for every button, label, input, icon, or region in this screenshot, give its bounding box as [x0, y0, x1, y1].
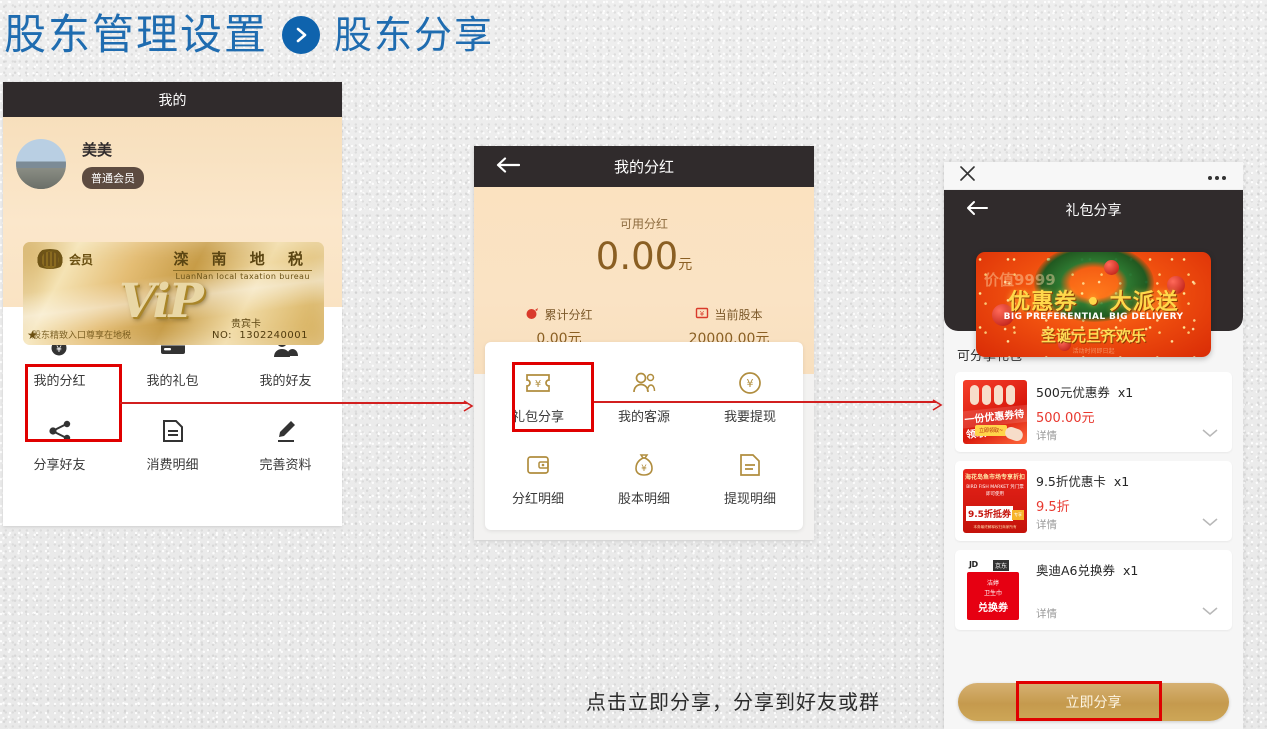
gift-info: 奥迪A6兑换券 x1 详情 [1036, 558, 1224, 622]
vip-card-vip-text: ViP [119, 274, 202, 329]
gift-detail-label[interactable]: 详情 [1036, 517, 1057, 532]
gift-thumbnail: 海花岛鱼市场专享折扣 BIRD FISH MARKET 凭门票即可使用 9.5折… [963, 469, 1027, 533]
gift-list-area: 可分享礼包 一份优惠券待领取 立即领取~ 500元优惠券 x1 500.00元 … [944, 331, 1243, 630]
thumb-sub: BIRD FISH MARKET 凭门票即可使用 [965, 485, 1025, 499]
available-dividend-label: 可用分红 [474, 187, 814, 232]
money-bag-icon: ¥ [632, 452, 656, 478]
withdraw-yuan-icon: ¥ [738, 370, 762, 396]
document-icon [739, 452, 761, 478]
page-title-main: 股东管理设置 [4, 14, 268, 56]
vip-card-footer-text: 股东精致入口尊享在地税 [32, 328, 131, 341]
panel2-menu-grid: ¥ 礼包分享 我的客源 ¥ 我要提现 分红明细 [485, 342, 803, 520]
gift-name: 9.5折优惠卡 x1 [1036, 471, 1224, 490]
panel3-header-title: 礼包分享 [1066, 200, 1122, 220]
phone-screen-profile: 我的 美美 普通会员 会员 滦 南 地 税 LuanNan local taxa… [3, 82, 342, 526]
menu-label: 我的礼包 [146, 370, 198, 389]
thumb-line-3: 兑换券 [967, 599, 1019, 614]
vip-card-number: NO: 1302240001 [212, 330, 308, 341]
thumb-tag: 专享 [1012, 510, 1024, 520]
more-dots-icon[interactable] [1207, 166, 1227, 185]
gift-detail-label[interactable]: 详情 [1036, 428, 1057, 443]
share-now-button[interactable]: 立即分享 [958, 683, 1229, 721]
vip-card-type: 贵宾卡 [231, 315, 261, 330]
ornament-icon [1104, 260, 1119, 275]
banner-footnote: 活动时间即日起 [976, 346, 1211, 355]
menu-label: 提现明细 [724, 488, 776, 507]
gift-detail-label[interactable]: 详情 [1036, 606, 1057, 621]
flow-arrow-1 [120, 397, 475, 409]
svg-text:¥: ¥ [535, 379, 541, 390]
thumb-line-1: 洁婷 [967, 578, 1019, 587]
instruction-caption: 点击立即分享，分享到好友或群 [586, 686, 880, 715]
vip-card[interactable]: 会员 滦 南 地 税 LuanNan local taxation bureau… [23, 242, 324, 345]
menu-label: 我要提现 [724, 406, 776, 425]
gift-price: 500.00元 [1036, 407, 1224, 426]
menu-label: 我的好友 [259, 370, 311, 389]
user-info: 美美 普通会员 [3, 117, 342, 189]
phone-screen-gift-share: 礼包分享 价值9999 优惠券 • 大派送 BIG PREFERENTIAL B… [944, 162, 1243, 729]
panel3-header-area: 礼包分享 价值9999 优惠券 • 大派送 BIG PREFERENTIAL B… [944, 190, 1243, 331]
customers-icon [631, 370, 657, 396]
menu-label: 我的客源 [618, 406, 670, 425]
panel2-menu-card: ¥ 礼包分享 我的客源 ¥ 我要提现 分红明细 [485, 342, 803, 530]
list-item[interactable]: 海花岛鱼市场专享折扣 BIRD FISH MARKET 凭门票即可使用 9.5折… [955, 461, 1232, 541]
thumb-badge: 9.5折抵券 [966, 506, 1013, 521]
list-item[interactable]: JD 京东 洁婷 卫生巾 兑换券 奥迪A6兑换券 x1 详情 [955, 550, 1232, 630]
gift-info: 9.5折优惠卡 x1 9.5折 详情 [1036, 469, 1224, 533]
thumb-title: 海花岛鱼市场专享折扣 [965, 472, 1025, 481]
list-item[interactable]: 一份优惠券待领取 立即领取~ 500元优惠券 x1 500.00元 详情 [955, 372, 1232, 452]
thumb-brand: JD [969, 560, 978, 569]
gift-thumbnail: JD 京东 洁婷 卫生巾 兑换券 [963, 558, 1027, 622]
promo-banner[interactable]: 价值9999 优惠券 • 大派送 BIG PREFERENTIAL BIG DE… [976, 252, 1211, 357]
back-arrow-icon[interactable] [496, 156, 520, 177]
user-name: 美美 [82, 139, 144, 160]
vip-card-logo: 会员 [33, 249, 93, 269]
menu-label: 消费明细 [146, 454, 198, 473]
panel1-header: 我的 [3, 82, 342, 117]
panel1-header-title: 我的 [159, 90, 187, 110]
thumb-foot: 本券最终解释权归商家所有 [965, 525, 1025, 530]
gift-ticket-icon: ¥ [525, 370, 551, 396]
stat-label: 累计分红 [544, 306, 592, 323]
panel1-profile-area: 美美 普通会员 会员 滦 南 地 税 LuanNan local taxatio… [3, 117, 342, 307]
page-title-sub: 股东分享 [334, 16, 494, 54]
svg-text:¥: ¥ [700, 310, 705, 318]
menu-item-share-friends[interactable]: 分享好友 [3, 403, 116, 487]
thumb-pill: 立即领取~ [975, 425, 1007, 436]
menu-label: 分红明细 [512, 488, 564, 507]
chevron-down-icon[interactable] [1202, 512, 1218, 531]
gift-info: 500元优惠券 x1 500.00元 详情 [1036, 380, 1224, 444]
gift-name: 500元优惠券 x1 [1036, 382, 1224, 401]
document-icon [162, 418, 184, 444]
stat-label: 当前股本 [714, 306, 762, 323]
panel2-header-title: 我的分红 [614, 156, 674, 177]
edit-pen-icon [275, 418, 297, 444]
menu-item-dividend-detail[interactable]: 分红明细 [485, 438, 591, 520]
avatar [16, 139, 66, 189]
gift-thumbnail: 一份优惠券待领取 立即领取~ [963, 380, 1027, 444]
menu-label: 股本明细 [618, 488, 670, 507]
chevron-right-circle-icon [282, 16, 320, 54]
share-bar: 立即分享 [944, 675, 1243, 729]
close-icon[interactable] [960, 166, 975, 185]
thumb-brand-tag: 京东 [993, 560, 1009, 571]
banner-subline-cn: 圣诞元旦齐欢乐 [976, 325, 1211, 346]
status-badge: 普通会员 [82, 167, 144, 189]
wechat-top-bar [944, 162, 1243, 190]
svg-text:¥: ¥ [747, 377, 754, 390]
share-icon [48, 418, 72, 444]
svg-text:¥: ¥ [641, 464, 647, 474]
menu-label: 礼包分享 [512, 406, 564, 425]
vip-card-org-cn: 滦 南 地 税 [173, 248, 312, 269]
flow-arrow-2 [594, 396, 944, 408]
svg-text:¥: ¥ [56, 345, 62, 355]
emblem-icon [33, 249, 67, 269]
chevron-down-icon[interactable] [1202, 601, 1218, 620]
panel3-header: 礼包分享 [944, 190, 1243, 230]
page-title: 股东管理设置 股东分享 [4, 2, 494, 68]
menu-item-consumption-detail[interactable]: 消费明细 [116, 403, 229, 487]
menu-label: 我的分红 [33, 370, 85, 389]
vip-card-member-label: 会员 [69, 251, 93, 268]
available-dividend-amount: 0.00元 [474, 235, 814, 278]
menu-item-gift-share[interactable]: ¥ 礼包分享 [485, 356, 591, 438]
gift-price: 9.5折 [1036, 496, 1224, 515]
coin-red-icon [525, 306, 539, 323]
banner-subline-en: BIG PREFERENTIAL BIG DELIVERY [976, 312, 1211, 322]
wallet-icon [526, 452, 550, 478]
ticket-red-icon: ¥ [695, 306, 709, 323]
menu-item-withdraw-detail[interactable]: 提现明细 [697, 438, 803, 520]
menu-item-capital-detail[interactable]: ¥ 股本明细 [591, 438, 697, 520]
menu-label: 完善资料 [259, 454, 311, 473]
panel2-header: 我的分红 [474, 146, 814, 187]
phone-screen-dividend: 我的分红 可用分红 0.00元 累计分红 0.00元 ¥ [474, 146, 814, 540]
back-arrow-icon[interactable] [966, 200, 988, 220]
menu-item-complete-profile[interactable]: 完善资料 [229, 403, 342, 487]
chevron-down-icon[interactable] [1202, 423, 1218, 442]
thumb-line-2: 卫生巾 [967, 588, 1019, 597]
gift-name: 奥迪A6兑换券 x1 [1036, 560, 1224, 579]
menu-label: 分享好友 [33, 454, 85, 473]
